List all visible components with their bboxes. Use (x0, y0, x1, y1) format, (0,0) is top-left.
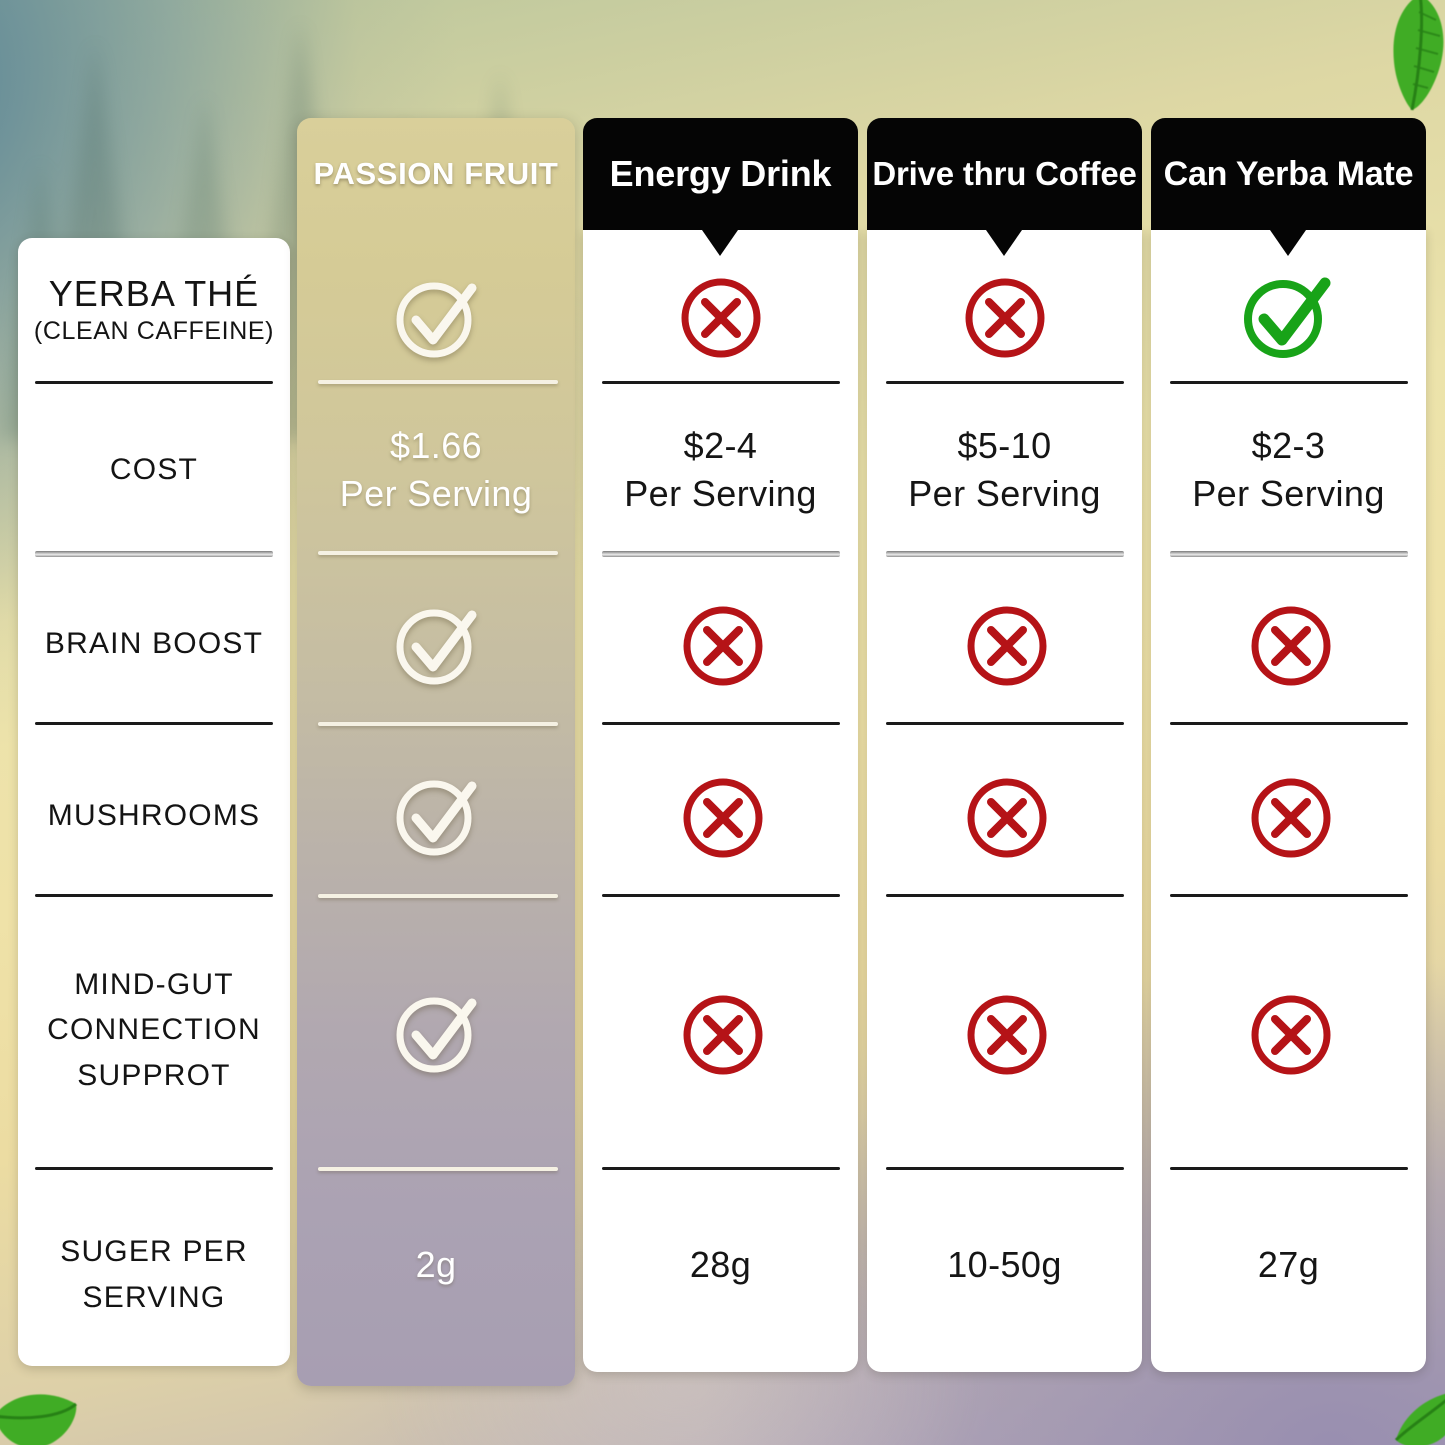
cross-red-icon (673, 768, 773, 868)
attribute-sugar-per-serving-label: SUGER PER SERVING (18, 1229, 290, 1320)
cross-red-icon (1241, 768, 1341, 868)
row-divider (886, 551, 1124, 557)
row-divider (602, 722, 840, 725)
comparison-chart-infographic: Energy Drink Drive thru Coffee Can Yerba… (0, 0, 1445, 1445)
row-divider (318, 380, 558, 384)
row-divider (602, 1167, 840, 1170)
tab-can-yerba-mate[interactable]: Can Yerba Mate (1151, 118, 1426, 230)
attribute-cost-label: COST (110, 447, 198, 493)
attribute-cost: COST (18, 410, 290, 530)
row-divider (318, 722, 558, 726)
cost-passion-fruit-unit: Per Serving (340, 473, 533, 514)
row-divider (886, 722, 1124, 725)
cost-drive-thru-coffee-unit: Per Serving (908, 473, 1101, 514)
check-white-icon (386, 595, 486, 695)
passion-fruit-title: PASSION FRUIT (297, 156, 575, 192)
check-white-icon (386, 268, 486, 368)
cross-red-icon (673, 596, 773, 696)
row-divider (318, 894, 558, 898)
attribute-yerba-the-subtitle: (CLEAN CAFFEINE) (34, 318, 274, 346)
cross-red-icon (955, 268, 1055, 368)
tab-energy-drink[interactable]: Energy Drink (583, 118, 858, 230)
attribute-sugar-per-serving: SUGER PER SERVING (18, 1215, 290, 1335)
check-white-icon (386, 983, 486, 1083)
attribute-mind-gut-connection: MIND-GUT CONNECTION SUPPROT (18, 955, 290, 1105)
cross-red-icon (671, 268, 771, 368)
cost-can-yerba-mate: $2-3 Per Serving (1151, 410, 1426, 530)
row-divider (318, 1167, 558, 1171)
sugar-energy-drink-value: 28g (690, 1241, 751, 1289)
tab-drive-thru-coffee[interactable]: Drive thru Coffee (867, 118, 1142, 230)
row-divider (35, 551, 273, 557)
cross-red-icon (957, 985, 1057, 1085)
attribute-mushrooms: MUSHROOMS (18, 768, 290, 864)
attribute-yerba-the-title: YERBA THÉ (49, 273, 259, 314)
row-divider (35, 381, 273, 384)
attribute-yerba-the: YERBA THÉ (CLEAN CAFFEINE) (18, 245, 290, 375)
tab-drive-thru-coffee-label: Drive thru Coffee (872, 155, 1136, 193)
tab-pointer-energy-drink (702, 230, 738, 256)
tab-pointer-drive-thru-coffee (986, 230, 1022, 256)
attribute-mind-gut-connection-label: MIND-GUT CONNECTION SUPPROT (18, 962, 290, 1099)
sugar-drive-thru-coffee-value: 10-50g (947, 1241, 1062, 1289)
row-divider (602, 381, 840, 384)
row-divider (886, 1167, 1124, 1170)
row-divider (35, 1167, 273, 1170)
tab-pointer-can-yerba-mate (1270, 230, 1306, 256)
row-divider (886, 381, 1124, 384)
attribute-mushrooms-label: MUSHROOMS (48, 793, 260, 839)
row-divider (35, 722, 273, 725)
sugar-drive-thru-coffee: 10-50g (867, 1215, 1142, 1315)
cost-drive-thru-coffee-value: $5-10 (957, 425, 1051, 466)
cost-drive-thru-coffee: $5-10 Per Serving (867, 410, 1142, 530)
cost-can-yerba-mate-value: $2-3 (1252, 425, 1326, 466)
row-divider (1170, 894, 1408, 897)
cost-passion-fruit-value: $1.66 (390, 425, 482, 466)
sugar-energy-drink: 28g (583, 1215, 858, 1315)
sugar-can-yerba-mate-value: 27g (1258, 1241, 1319, 1289)
sugar-passion-fruit-value: 2g (416, 1241, 457, 1289)
cross-red-icon (957, 596, 1057, 696)
cross-red-icon (957, 768, 1057, 868)
row-divider (1170, 722, 1408, 725)
cost-energy-drink: $2-4 Per Serving (583, 410, 858, 530)
cost-passion-fruit: $1.66 Per Serving (297, 410, 575, 530)
row-divider (602, 551, 840, 557)
row-divider (886, 894, 1124, 897)
row-divider (1170, 1167, 1408, 1170)
attribute-brain-boost: BRAIN BOOST (18, 596, 290, 692)
row-divider (1170, 551, 1408, 557)
cost-can-yerba-mate-unit: Per Serving (1192, 473, 1385, 514)
row-divider (318, 551, 558, 555)
check-green-icon (1236, 266, 1336, 366)
row-divider (1170, 381, 1408, 384)
row-divider (602, 894, 840, 897)
sugar-can-yerba-mate: 27g (1151, 1215, 1426, 1315)
cross-red-icon (1241, 596, 1341, 696)
row-divider (35, 894, 273, 897)
sugar-passion-fruit: 2g (297, 1215, 575, 1315)
cost-energy-drink-unit: Per Serving (624, 473, 817, 514)
attribute-brain-boost-label: BRAIN BOOST (45, 621, 263, 667)
cost-energy-drink-value: $2-4 (684, 425, 758, 466)
cross-red-icon (1241, 985, 1341, 1085)
tab-can-yerba-mate-label: Can Yerba Mate (1164, 155, 1414, 194)
cross-red-icon (673, 985, 773, 1085)
tab-energy-drink-label: Energy Drink (610, 153, 832, 195)
check-white-icon (386, 766, 486, 866)
